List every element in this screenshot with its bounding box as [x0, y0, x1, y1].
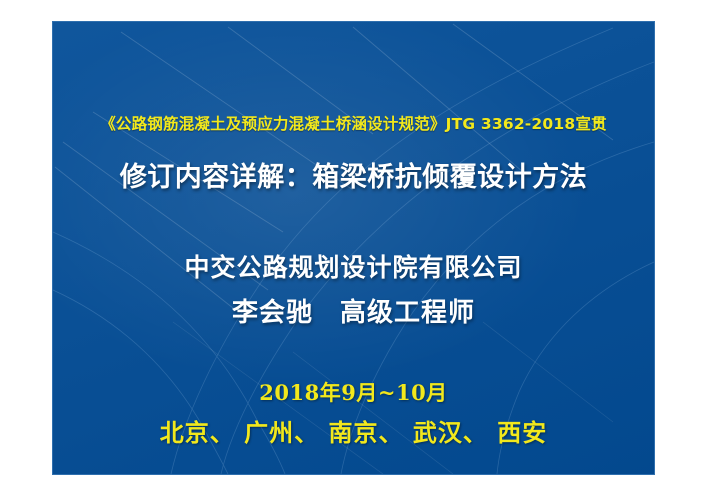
- slide-main-title: 修订内容详解：箱梁桥抗倾覆设计方法: [53, 155, 654, 194]
- presentation-title-slide: 《公路钢筋混凝土及预应力混凝土桥涵设计规范》JTG 3362-2018宣贯 修订…: [53, 22, 654, 474]
- slide-subtitle: 《公路钢筋混凝土及预应力混凝土桥涵设计规范》JTG 3362-2018宣贯: [53, 112, 654, 134]
- slide-cities: 北京、 广州、 南京、 武汉、 西安: [53, 413, 654, 448]
- slide-date: 2018年9月~10月: [53, 377, 654, 407]
- slide-organization: 中交公路规划设计院有限公司: [53, 248, 654, 284]
- slide-canvas: 《公路钢筋混凝土及预应力混凝土桥涵设计规范》JTG 3362-2018宣贯 修订…: [0, 0, 702, 496]
- slide-text-stack: 《公路钢筋混凝土及预应力混凝土桥涵设计规范》JTG 3362-2018宣贯 修订…: [53, 22, 654, 474]
- slide-presenter: 李会驰 高级工程师: [53, 292, 654, 329]
